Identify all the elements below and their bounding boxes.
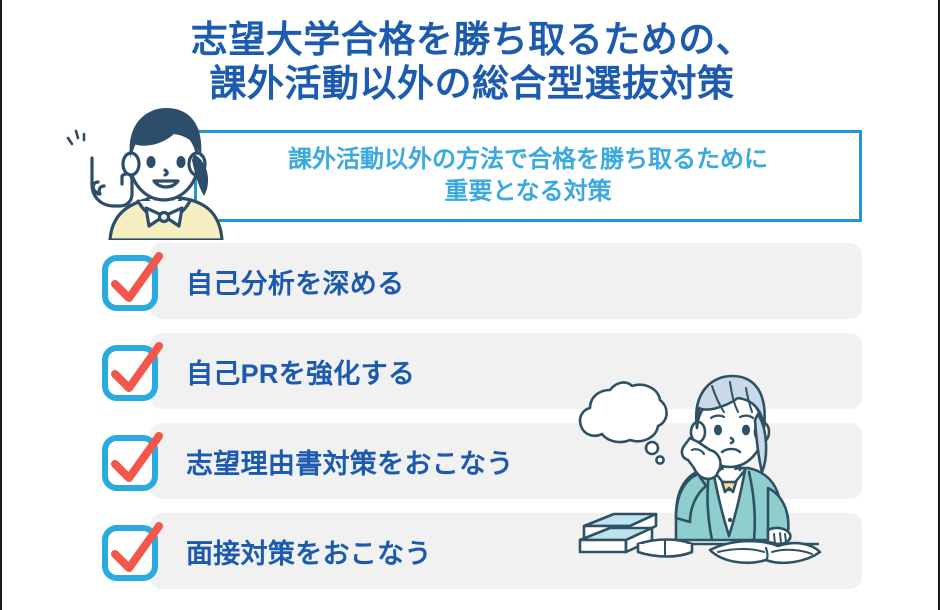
checkbox-checked-icon[interactable] [101,340,163,402]
subtitle-text: 課外活動以外の方法で合格を勝ち取るために 重要となる対策 [288,144,768,209]
subtitle-box: 課外活動以外の方法で合格を勝ち取るために 重要となる対策 [194,130,862,222]
checklist-item-label: 自己分析を深める [186,243,404,319]
checklist-item-label: 志望理由書対策をおこなう [186,423,514,499]
checklist-item-label: 面接対策をおこなう [186,513,432,589]
checklist-item-label: 自己PRを強化する [186,333,415,409]
page-title-line-2: 課外活動以外の総合型選抜対策 [2,62,940,106]
thinking-student-illustration [572,368,842,598]
pointing-student-illustration [52,100,252,240]
page-title: 志望大学合格を勝ち取るための、 課外活動以外の総合型選抜対策 [2,18,940,105]
page-title-line-1: 志望大学合格を勝ち取るための、 [2,18,940,62]
checkbox-checked-icon[interactable] [101,250,163,312]
checkbox-checked-icon[interactable] [101,430,163,492]
checklist-row[interactable]: 自己分析を深める [150,243,862,319]
infographic-canvas: 志望大学合格を勝ち取るための、 課外活動以外の総合型選抜対策 課外活動以外の方法… [0,0,940,610]
checkbox-checked-icon[interactable] [101,520,163,582]
